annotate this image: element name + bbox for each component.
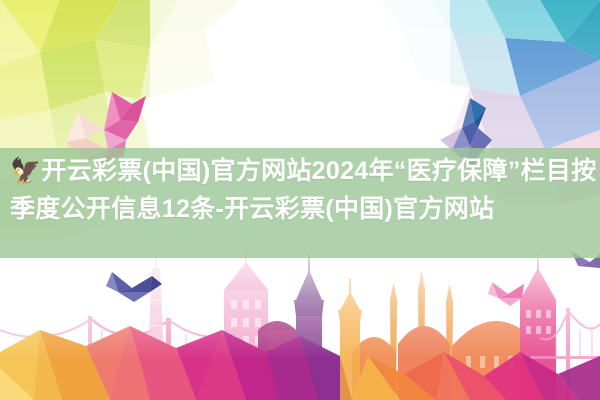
banner-image: 🦅开云彩票(中国)官方网站2024年“医疗保障”栏目按季度公开信息12条-开云彩… [0,0,600,400]
caption-band: 🦅开云彩票(中国)官方网站2024年“医疗保障”栏目按季度公开信息12条-开云彩… [0,148,600,258]
caption-text: 🦅开云彩票(中国)官方网站2024年“医疗保障”栏目按季度公开信息12条-开云彩… [10,152,600,228]
istanbul-skyline [0,240,600,400]
